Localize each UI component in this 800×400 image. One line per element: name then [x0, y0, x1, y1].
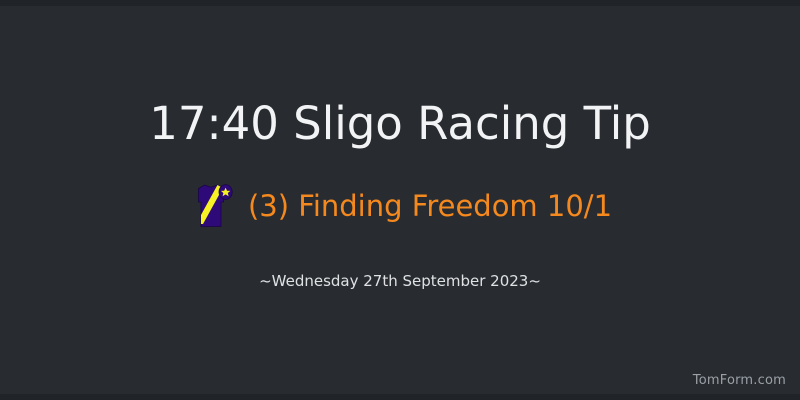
jockey-silk-icon	[188, 182, 234, 230]
racing-tip-card: 17:40 Sligo Racing Tip (3) Findin	[0, 0, 800, 400]
selection-label: (3) Finding Freedom 10/1	[248, 186, 612, 226]
selection-row: (3) Finding Freedom 10/1	[0, 182, 800, 230]
site-watermark: TomForm.com	[693, 372, 786, 390]
page-title: 17:40 Sligo Racing Tip	[0, 96, 800, 152]
tip-content-block: 17:40 Sligo Racing Tip (3) Findin	[0, 0, 800, 400]
race-date: ~Wednesday 27th September 2023~	[0, 270, 800, 292]
